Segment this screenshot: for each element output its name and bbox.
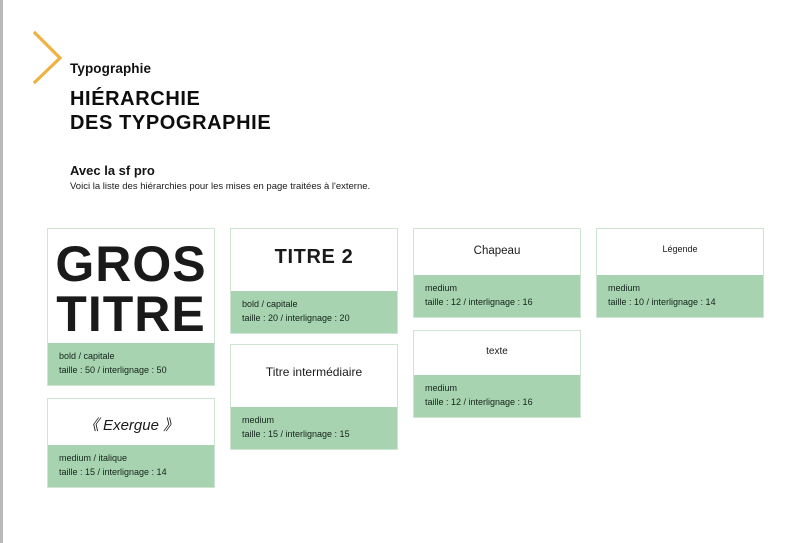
header-kicker: Typographie <box>70 62 271 77</box>
header: Typographie HIÉRARCHIE DES TYPOGRAPHIE <box>70 62 271 136</box>
card-titre-2: TITRE 2 bold / capitale taille : 20 / in… <box>230 228 398 334</box>
card-gros-titre: GROS TITRE bold / capitale taille : 50 /… <box>47 228 215 386</box>
chevron-right-icon <box>33 30 63 85</box>
card-sample-gros-titre: GROS TITRE <box>48 229 214 343</box>
card-texte: texte medium taille : 12 / interlignage … <box>413 330 581 418</box>
card-meta-titre-intermediaire: medium taille : 15 / interlignage : 15 <box>231 407 397 449</box>
intro-subtitle: Voici la liste des hiérarchies pour les … <box>70 181 370 193</box>
card-meta-chapeau: medium taille : 12 / interlignage : 16 <box>414 275 580 317</box>
intro-title: Avec la sf pro <box>70 163 370 179</box>
card-sample-texte: texte <box>414 331 580 375</box>
card-sample-titre-2: TITRE 2 <box>231 229 397 291</box>
card-exergue: 《 Exergue 》 medium / italique taille : 1… <box>47 398 215 488</box>
card-sample-exergue: 《 Exergue 》 <box>48 399 214 445</box>
page-title: HIÉRARCHIE DES TYPOGRAPHIE <box>70 87 271 136</box>
intro-block: Avec la sf pro Voici la liste des hiérar… <box>70 163 370 192</box>
card-meta-exergue: medium / italique taille : 15 / interlig… <box>48 445 214 487</box>
card-meta-titre-2: bold / capitale taille : 20 / interligna… <box>231 291 397 333</box>
card-meta-texte: medium taille : 12 / interlignage : 16 <box>414 375 580 417</box>
card-sample-chapeau: Chapeau <box>414 229 580 275</box>
slide-page: Typographie HIÉRARCHIE DES TYPOGRAPHIE A… <box>0 0 800 543</box>
card-legende: Légende medium taille : 10 / interlignag… <box>596 228 764 318</box>
card-sample-legende: Légende <box>597 229 763 275</box>
card-meta-legende: medium taille : 10 / interlignage : 14 <box>597 275 763 317</box>
card-titre-intermediaire: Titre intermédiaire medium taille : 15 /… <box>230 344 398 450</box>
card-sample-titre-intermediaire: Titre intermédiaire <box>231 345 397 407</box>
card-meta-gros-titre: bold / capitale taille : 50 / interligna… <box>48 343 214 385</box>
card-chapeau: Chapeau medium taille : 12 / interlignag… <box>413 228 581 318</box>
